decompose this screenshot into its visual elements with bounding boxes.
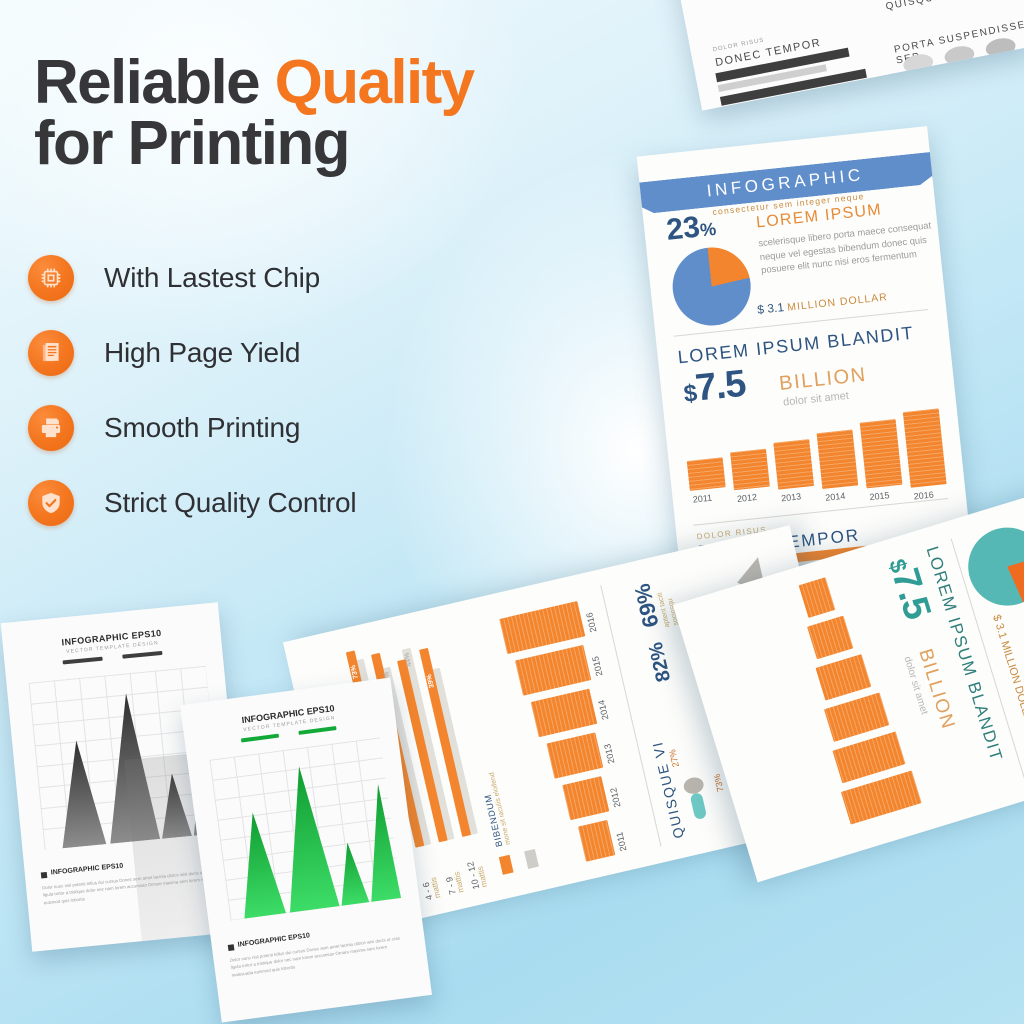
feature-item-quality-control[interactable]: Strict Quality Control (28, 465, 508, 540)
year-label: 2014 (825, 491, 846, 503)
feature-list: With Lastest Chip High Page Yield (28, 240, 508, 540)
page-title: Reliable Quality for Printing (34, 52, 634, 175)
sheet-spike-green: INFOGRAPHIC EPS10 VECTOR TEMPLATE DESIGN… (180, 678, 432, 1023)
pie-chart-teal (959, 518, 1024, 615)
feature-label: With Lastest Chip (104, 262, 320, 294)
year-label: 2015 (869, 490, 890, 502)
rot-legend-swatch (499, 855, 514, 875)
feature-label: Strict Quality Control (104, 487, 356, 519)
blandit-unit: BILLION (778, 364, 868, 396)
bulb-icon (690, 792, 708, 820)
feature-label: Smooth Printing (104, 412, 300, 444)
shield-check-icon (28, 480, 74, 526)
money-stat: $ 3.1 MILLION DOLLAR (757, 289, 889, 317)
year-label: 2011 (692, 493, 712, 505)
poster-canvas: DOLOR RISUS DONEC TEMPOR QUISQUE VITAE O… (0, 0, 1024, 1024)
pie-chart-blue (669, 244, 755, 330)
spike-footer-title-2: INFOGRAPHIC EPS10 (237, 932, 310, 948)
headline-line1-a: Reliable (34, 48, 275, 117)
rot-pct-b: 73% (712, 773, 726, 793)
document-icon (28, 330, 74, 376)
feature-item-smooth-printing[interactable]: Smooth Printing (28, 390, 508, 465)
feature-item-page-yield[interactable]: High Page Yield (28, 315, 508, 390)
rot-pct-d: 82% (645, 640, 676, 684)
year-label: 2012 (736, 492, 757, 504)
year-bar-chart: 2011 2012 2013 2014 2015 2016 (684, 406, 952, 521)
feature-label: High Page Yield (104, 337, 300, 369)
printer-icon (28, 405, 74, 451)
headline-line2: for Printing (34, 109, 349, 178)
blandit-title: LOREM IPSUM BLANDIT (677, 323, 915, 369)
sheet-grayscale-top: DOLOR RISUS DONEC TEMPOR QUISQUE VITAE O… (664, 0, 1024, 111)
headline-line1-accent: Quality (275, 48, 474, 117)
gs-title-2: QUISQUE VITAE ODIO (885, 0, 1019, 13)
feature-item-chip[interactable]: With Lastest Chip (28, 240, 508, 315)
year-label: 2013 (781, 491, 802, 503)
chip-icon (28, 255, 74, 301)
rot-year-bars: 2011 2012 2013 2014 2015 2016 (498, 593, 647, 869)
spike-footer-title-1: INFOGRAPHIC EPS10 (51, 863, 124, 877)
blandit-value: $7.5 (681, 363, 747, 412)
stat-percent: 23% (665, 209, 718, 248)
teal-money: $ 3.1 MILLION DOLLAR (990, 613, 1024, 730)
spike-chart-2 (209, 737, 401, 920)
